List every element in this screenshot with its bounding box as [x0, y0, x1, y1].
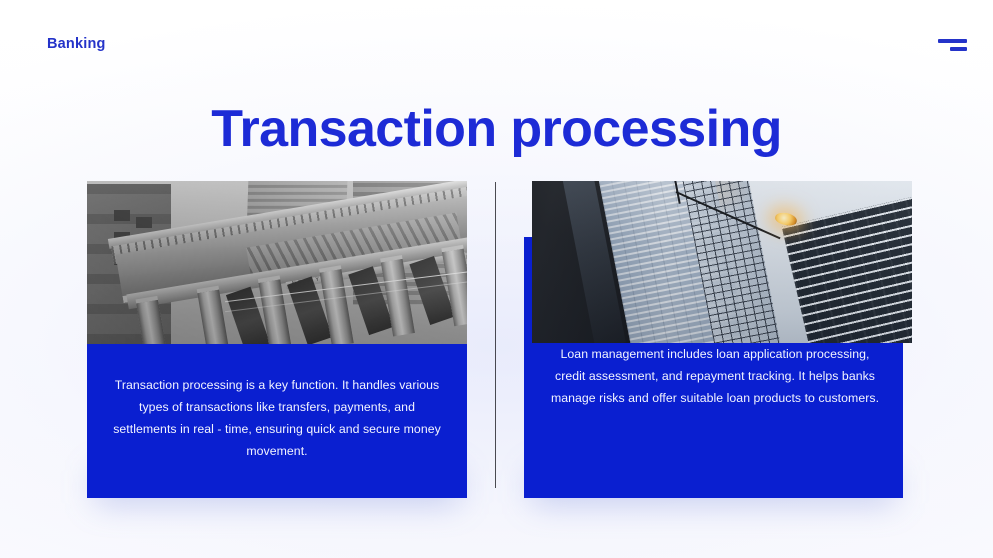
card-body-text: Transaction processing is a key function…: [109, 374, 445, 462]
card-image-stock-exchange: NEW YORK: [87, 181, 467, 344]
card-image-skyscrapers: [532, 181, 912, 343]
vertical-divider: [495, 182, 496, 488]
content-cards: NEW YORK: [0, 0, 993, 558]
photo-shading-overlay: [532, 181, 912, 343]
stock-exchange-photo: NEW YORK: [87, 181, 467, 344]
photo-shading-overlay: [87, 181, 467, 344]
skyscrapers-photo: [532, 181, 912, 343]
card-text-panel: Transaction processing is a key function…: [87, 344, 467, 498]
slide: Banking Transaction processing: [0, 0, 993, 558]
card-body-text: Loan management includes loan applicatio…: [550, 343, 880, 409]
